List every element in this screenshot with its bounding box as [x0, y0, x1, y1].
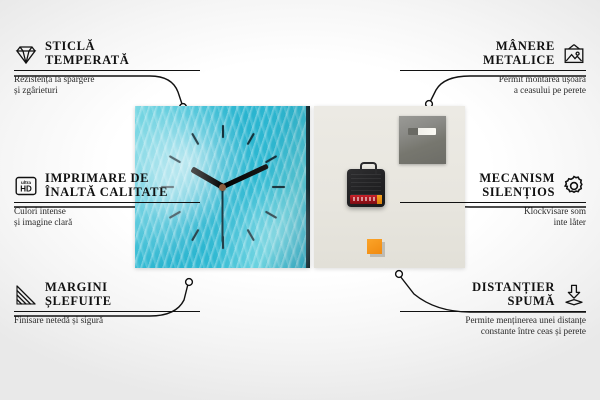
ultra-hd-icon: ultra HD	[14, 174, 38, 198]
callout-title-line2: TEMPERATĂ	[45, 54, 129, 68]
tick-3	[223, 186, 285, 188]
wire-dot-distantier	[396, 271, 403, 278]
callout-desc-line2: și zgârieturi	[14, 85, 200, 96]
callout-title-line1: MÂNERE	[400, 40, 555, 54]
tick-2	[222, 155, 277, 188]
callout-title-line2: SPUMĂ	[400, 295, 555, 309]
callout-sticla-temperata: STICLĂ TEMPERATĂ Rezistență la spargere …	[14, 40, 200, 96]
clock-center-cap	[219, 184, 226, 191]
gear-icon	[562, 174, 586, 198]
callout-desc-line1: Culori intense	[14, 206, 200, 217]
callout-title-line2: ȘLEFUITE	[45, 295, 112, 309]
callout-margini-slefuite: MARGINI ȘLEFUITE Finisare netedă și sigu…	[14, 281, 200, 326]
callout-desc-line2: și imagine clară	[14, 217, 200, 228]
callout-distantier-spuma: DISTANȚIER SPUMĂ Permite menținerea unei…	[400, 281, 586, 337]
battery	[350, 195, 382, 204]
callout-title-line2: SILENȚIOS	[400, 186, 555, 200]
callout-imprimare-calitate: ultra HD IMPRIMARE DE ÎNALTĂ CALITATE Cu…	[14, 172, 200, 228]
foam-spacer	[367, 239, 382, 254]
callout-rule	[14, 202, 200, 203]
metal-hanger-plate	[399, 116, 446, 164]
callout-mecanism-silentios: MECANISM SILENȚIOS Klockvisare som inte …	[400, 172, 586, 228]
callout-title-line1: IMPRIMARE DE	[45, 172, 168, 186]
callout-rule	[400, 70, 586, 71]
bevel-edge-icon	[14, 283, 38, 307]
callout-rule	[400, 202, 586, 203]
tick-5	[222, 187, 255, 242]
callout-title-line1: STICLĂ	[45, 40, 129, 54]
callout-manere-metalice: MÂNERE METALICE Permit montarea ușoară a…	[400, 40, 586, 96]
callout-desc-line1: Finisare netedă și sigură	[14, 315, 200, 326]
tick-1	[222, 133, 255, 188]
clock-second-hand	[222, 187, 224, 242]
diamond-icon	[14, 42, 38, 66]
callout-desc-line2: a ceasului pe perete	[400, 85, 586, 96]
tick-4	[222, 186, 277, 219]
callout-rule	[14, 70, 200, 71]
callout-title-line1: DISTANȚIER	[400, 281, 555, 295]
callout-desc-line1: Permit montarea ușoară	[400, 74, 586, 85]
tick-12	[222, 125, 224, 187]
callout-desc-line1: Permite menținerea unei distanțe	[400, 315, 586, 326]
clock-minute-hand	[221, 164, 268, 190]
callout-desc-line1: Klockvisare som	[400, 206, 586, 217]
quartz-mechanism	[347, 169, 385, 207]
tick-6	[222, 187, 224, 249]
picture-frame-hanger-icon	[562, 42, 586, 66]
callout-desc-line2: constante între ceas și perete	[400, 326, 586, 337]
callout-title-line1: MARGINI	[45, 281, 112, 295]
callout-desc-line1: Rezistență la spargere	[14, 74, 200, 85]
mechanism-hanging-loop	[360, 162, 377, 174]
infographic-canvas: STICLĂ TEMPERATĂ Rezistență la spargere …	[0, 0, 600, 400]
clock-glass-edge	[306, 106, 310, 268]
callout-title-line2: ÎNALTĂ CALITATE	[45, 186, 168, 200]
svg-text:HD: HD	[20, 184, 32, 193]
foam-spacer-arrow-icon	[562, 283, 586, 307]
callout-rule	[400, 311, 586, 312]
callout-rule	[14, 311, 200, 312]
mechanism-texture	[351, 174, 381, 196]
callout-title-line1: MECANISM	[400, 172, 555, 186]
callout-title-line2: METALICE	[400, 54, 555, 68]
callout-desc-line2: inte låter	[400, 217, 586, 228]
